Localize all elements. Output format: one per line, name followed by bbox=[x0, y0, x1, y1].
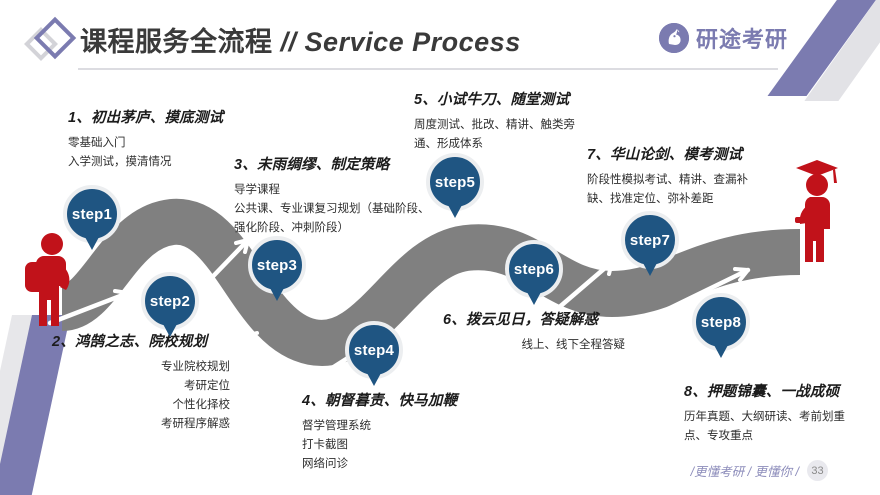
step-badge-3[interactable]: step3 bbox=[248, 236, 306, 294]
step-title-8: 8、押题锦囊、一战成硕 bbox=[684, 380, 874, 401]
step-block-1: 1、初出茅庐、摸底测试 零基础入门 入学测试，摸清情况 bbox=[68, 106, 223, 172]
diamond-outline-icon bbox=[24, 18, 82, 64]
step-badge-6[interactable]: step6 bbox=[505, 240, 563, 298]
footer-tagline: /更懂考研 / 更懂你 / bbox=[691, 461, 799, 480]
step-block-4: 4、朝督暮责、快马加鞭 督学管理系统 打卡截图 网络问诊 bbox=[302, 389, 457, 474]
step-line-7-2: 缺、找准定位、弥补差距 bbox=[587, 190, 777, 209]
step-title-4: 4、朝督暮责、快马加鞭 bbox=[302, 389, 457, 410]
step-line-5-1: 周度测试、批改、精讲、触类旁 bbox=[414, 116, 604, 135]
page-number: 33 bbox=[807, 460, 828, 481]
brand-logo-text: 研途考研 bbox=[696, 22, 788, 54]
header-divider bbox=[78, 68, 778, 70]
step-line-2-1: 专业院校规划 bbox=[0, 358, 230, 377]
step-badge-1[interactable]: step1 bbox=[63, 185, 121, 243]
step-line-4-1: 督学管理系统 bbox=[302, 417, 457, 436]
step-line-8-1: 历年真题、大纲研读、考前划重 bbox=[684, 408, 874, 427]
horse-head-circle-icon bbox=[659, 23, 689, 53]
step-title-5: 5、小试牛刀、随堂测试 bbox=[414, 88, 604, 109]
step-block-2: 2、鸿鹄之志、院校规划 专业院校规划 考研定位 个性化择校 考研程序解惑 bbox=[0, 330, 230, 434]
step-line-2-2: 考研定位 bbox=[0, 377, 230, 396]
page-title-cn: 课程服务全流程 bbox=[80, 27, 273, 57]
step-line-4-3: 网络问诊 bbox=[302, 455, 457, 474]
page-title-sep: // bbox=[281, 27, 297, 57]
page-title-en: Service Process bbox=[305, 27, 521, 57]
step-line-6-1: 线上、线下全程答疑 bbox=[400, 336, 625, 355]
step-badge-4[interactable]: step4 bbox=[345, 321, 403, 379]
step-block-5: 5、小试牛刀、随堂测试 周度测试、批改、精讲、触类旁 通、形成体系 bbox=[414, 88, 604, 154]
step-title-1: 1、初出茅庐、摸底测试 bbox=[68, 106, 223, 127]
slide-canvas: 课程服务全流程 // Service Process 研途考研 bbox=[0, 0, 880, 495]
step-line-1-2: 入学测试，摸清情况 bbox=[68, 153, 223, 172]
step-line-3-2: 公共课、专业课复习规划（基础阶段、 bbox=[234, 200, 449, 219]
step-line-3-1: 导学课程 bbox=[234, 181, 449, 200]
step-line-1-1: 零基础入门 bbox=[68, 134, 223, 153]
step-line-2-4: 考研程序解惑 bbox=[0, 415, 230, 434]
step-line-7-1: 阶段性模拟考试、精讲、查漏补 bbox=[587, 171, 777, 190]
step-block-8: 8、押题锦囊、一战成硕 历年真题、大纲研读、考前划重 点、专攻重点 bbox=[684, 380, 874, 446]
step-title-2: 2、鸿鹄之志、院校规划 bbox=[0, 330, 230, 351]
step-block-3: 3、未雨绸缪、制定策略 导学课程 公共课、专业课复习规划（基础阶段、 强化阶段、… bbox=[234, 153, 449, 238]
step-block-7: 7、华山论剑、模考测试 阶段性模拟考试、精讲、查漏补 缺、找准定位、弥补差距 bbox=[587, 143, 777, 209]
step-badge-2[interactable]: step2 bbox=[141, 272, 199, 330]
step-line-4-2: 打卡截图 bbox=[302, 436, 457, 455]
brand-logo: 研途考研 bbox=[659, 22, 788, 54]
step-badge-7[interactable]: step7 bbox=[621, 211, 679, 269]
step-block-6: 6、拨云见日，答疑解惑 线上、线下全程答疑 bbox=[400, 308, 625, 355]
step-badge-8[interactable]: step8 bbox=[692, 293, 750, 351]
graduate-with-book-icon bbox=[788, 155, 846, 265]
step-line-5-2: 通、形成体系 bbox=[414, 135, 604, 154]
step-line-8-2: 点、专攻重点 bbox=[684, 427, 874, 446]
step-line-3-3: 强化阶段、冲刺阶段） bbox=[234, 219, 449, 238]
step-line-2-3: 个性化择校 bbox=[0, 396, 230, 415]
step-title-6: 6、拨云见日，答疑解惑 bbox=[400, 308, 625, 329]
step-title-3: 3、未雨绸缪、制定策略 bbox=[234, 153, 449, 174]
slide-footer: /更懂考研 / 更懂你 / 33 bbox=[691, 460, 828, 481]
student-with-backpack-icon bbox=[18, 230, 80, 330]
step-badge-5[interactable]: step5 bbox=[426, 153, 484, 211]
step-title-7: 7、华山论剑、模考测试 bbox=[587, 143, 777, 164]
slide-header: 课程服务全流程 // Service Process 研途考研 bbox=[0, 0, 880, 78]
page-title: 课程服务全流程 // Service Process bbox=[80, 20, 521, 59]
